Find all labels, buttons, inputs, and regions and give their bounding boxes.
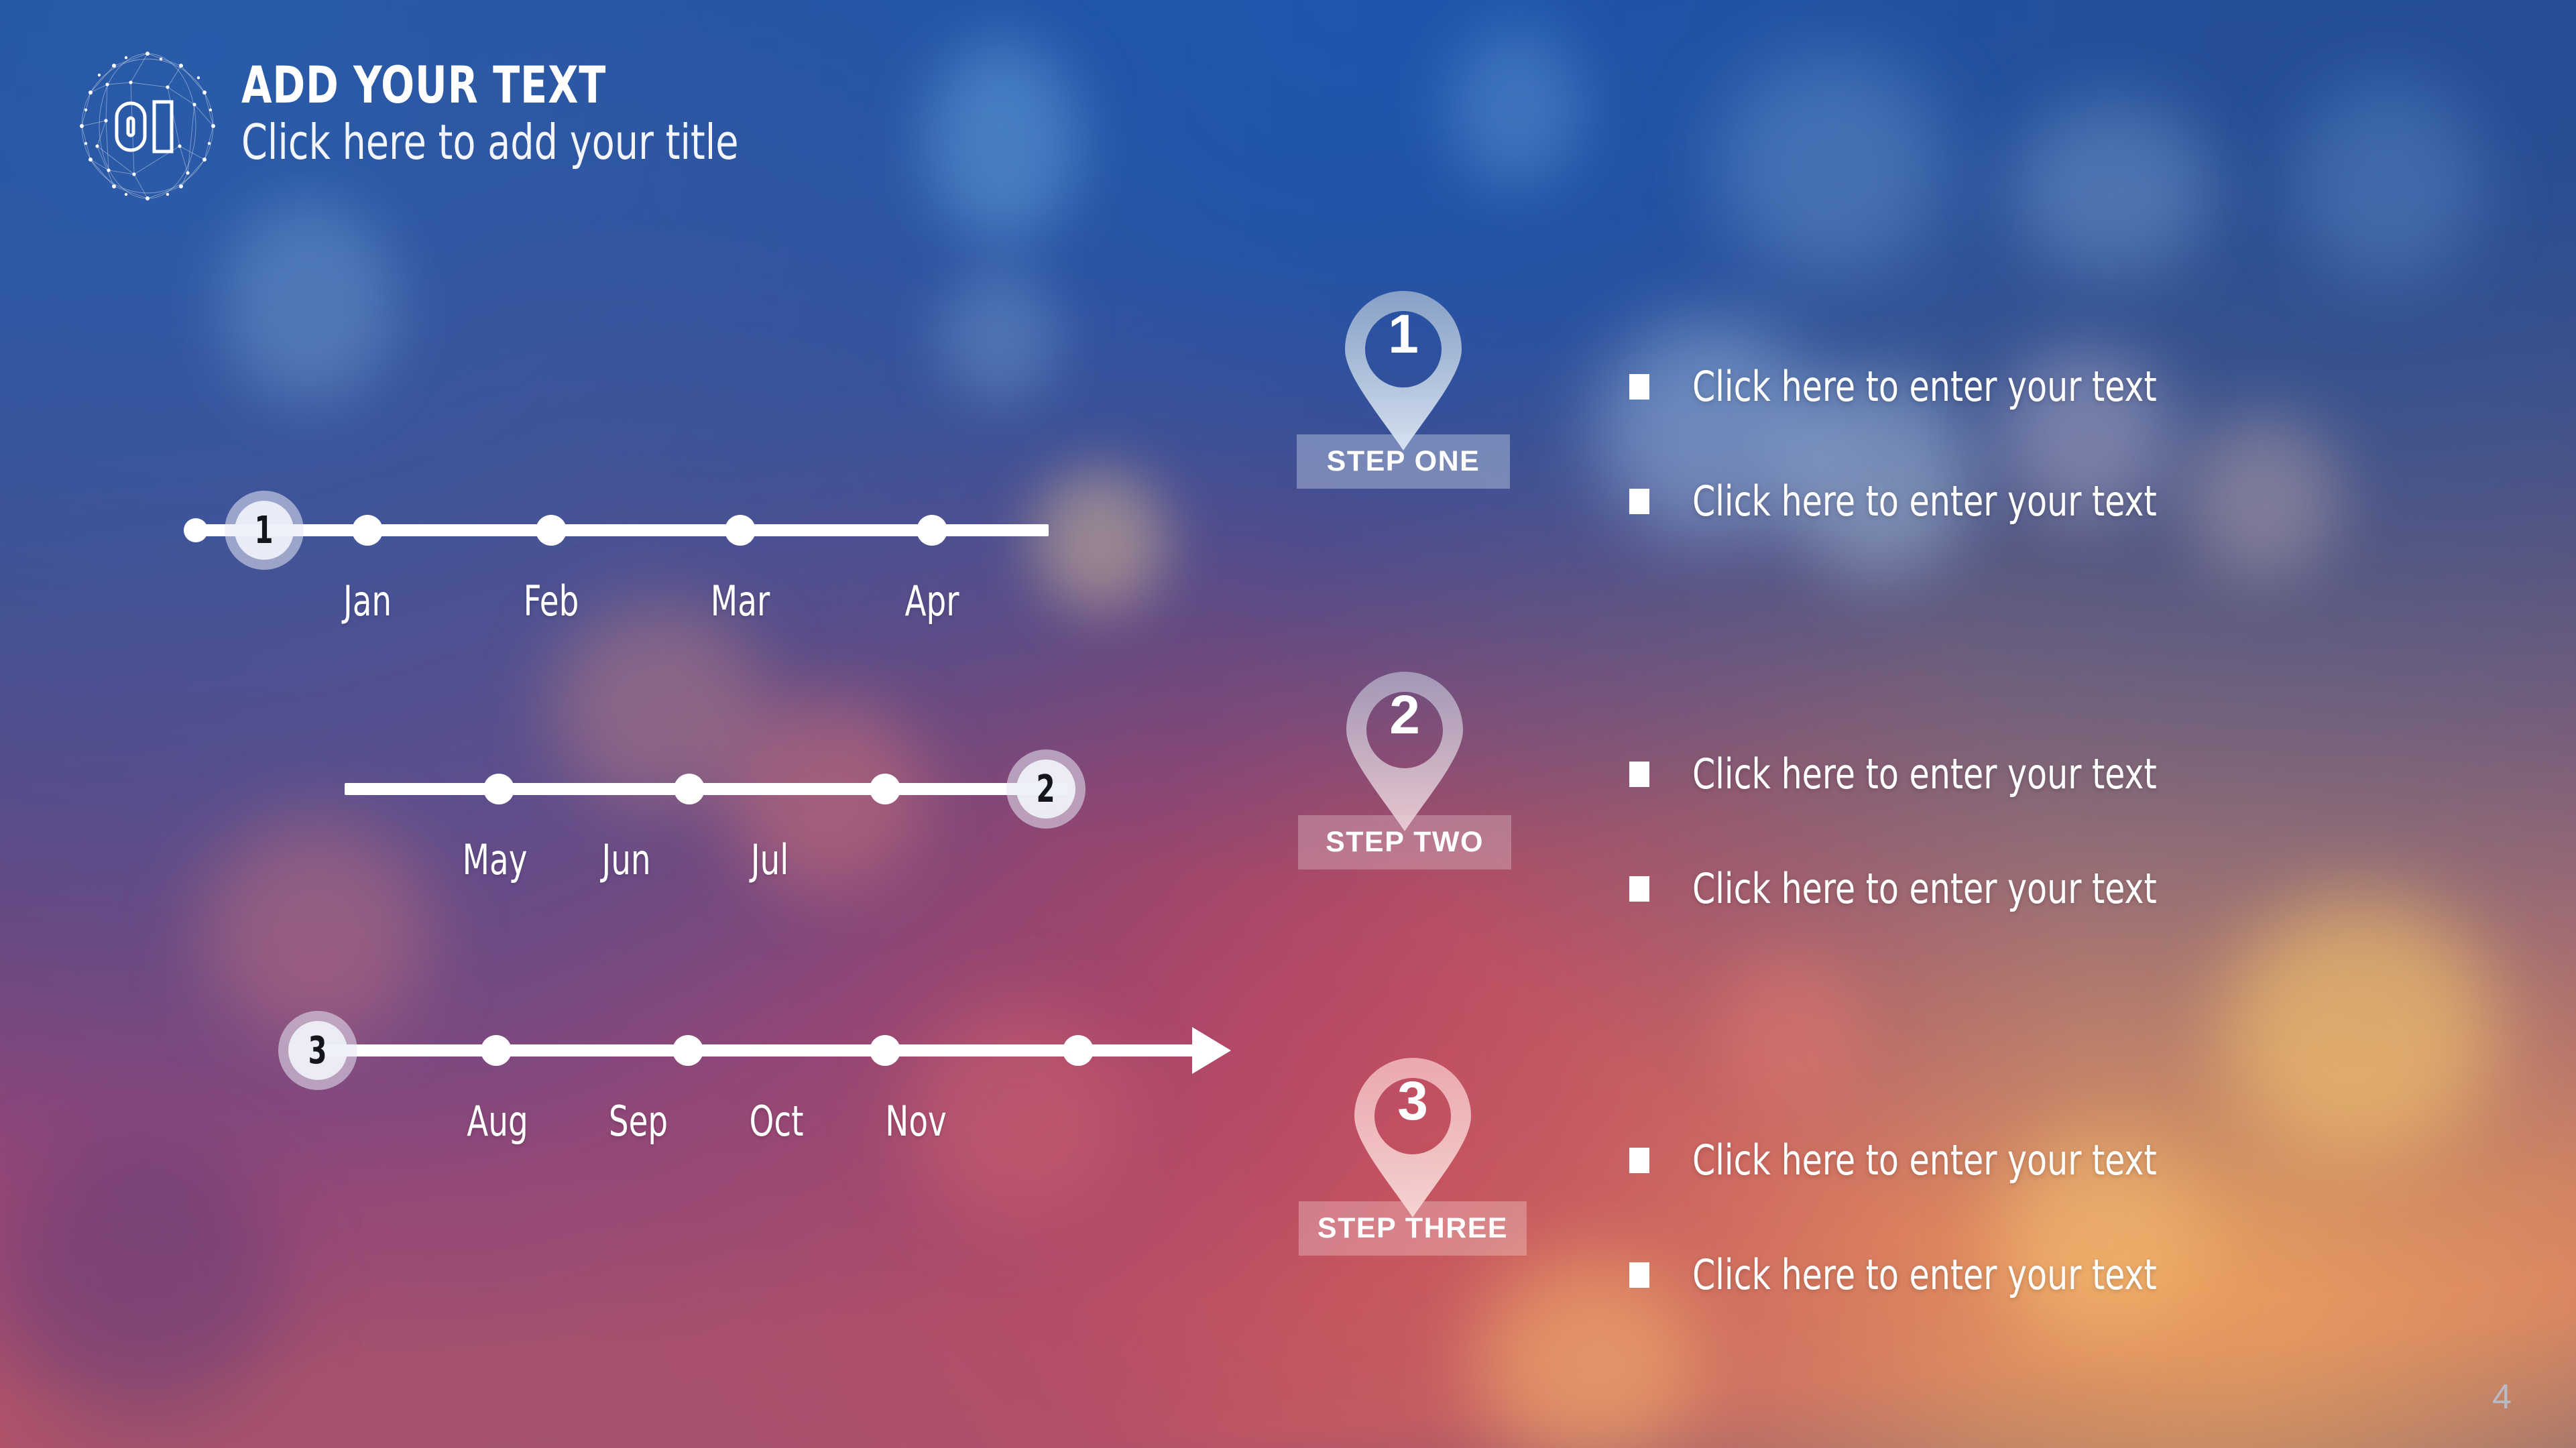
bokeh-blob <box>1033 469 1167 610</box>
network-constellation-logo-icon <box>67 46 228 206</box>
timeline-month-label: Aug <box>467 1097 528 1146</box>
list-item-label: Click here to enter your text <box>1692 362 2157 411</box>
timeline-arrow-head-icon <box>1192 1027 1231 1074</box>
bokeh-blob <box>0 1140 282 1421</box>
step-pin-number: 3 <box>1349 1074 1476 1129</box>
timeline-month-label: Sep <box>609 1097 668 1146</box>
step-two-bullets: Click here to enter your text Click here… <box>1629 749 2220 913</box>
filled-square-bullet-icon <box>1629 876 1649 902</box>
timeline-month-label: Apr <box>904 577 959 625</box>
timeline-month-label: Jul <box>751 835 789 884</box>
list-item-label: Click here to enter your text <box>1692 477 2157 526</box>
bokeh-blob <box>550 603 764 804</box>
map-pin-icon[interactable]: 1 <box>1340 287 1467 455</box>
step-label-chip[interactable]: STEP THREE <box>1299 1201 1527 1256</box>
list-item-label: Click here to enter your text <box>1692 749 2157 798</box>
step-three-bullets: Click here to enter your text Click here… <box>1629 1136 2220 1299</box>
list-item-label: Click here to enter your text <box>1692 1250 2157 1299</box>
timeline-node[interactable] <box>536 515 567 546</box>
list-item[interactable]: Click here to enter your text <box>1629 362 2220 411</box>
timeline-track <box>345 783 1067 795</box>
bokeh-blob <box>2293 80 2481 282</box>
timeline-node[interactable] <box>917 515 947 546</box>
bokeh-blob <box>2226 898 2494 1153</box>
bokeh-blob <box>925 40 1079 241</box>
bokeh-blob <box>201 818 429 1039</box>
map-pin-icon[interactable]: 2 <box>1341 668 1468 835</box>
list-item[interactable]: Click here to enter your text <box>1629 749 2220 798</box>
marker-number: 3 <box>308 1029 327 1073</box>
timeline-node[interactable] <box>1063 1035 1094 1066</box>
filled-square-bullet-icon <box>1629 762 1649 787</box>
timeline-node[interactable] <box>352 515 383 546</box>
page-subtitle: Click here to add your title <box>241 115 739 170</box>
timeline-node[interactable] <box>870 1035 900 1066</box>
bokeh-blob <box>1448 27 1582 188</box>
page-number: 4 <box>2492 1377 2512 1417</box>
timeline-node[interactable] <box>672 1035 703 1066</box>
list-item[interactable]: Click here to enter your text <box>1629 864 2220 913</box>
timeline-node[interactable] <box>483 774 514 804</box>
step-group-one[interactable]: 1 STEP ONE <box>1340 287 1467 455</box>
step-pin-number: 2 <box>1341 688 1468 743</box>
bokeh-blob <box>1716 54 1944 275</box>
timeline-marker-3[interactable]: 3 <box>278 1011 357 1090</box>
bokeh-blob <box>939 268 1059 402</box>
list-item-label: Click here to enter your text <box>1692 1136 2157 1185</box>
timeline-month-label: Nov <box>885 1097 946 1146</box>
filled-square-bullet-icon <box>1629 1262 1649 1288</box>
step-one-bullets: Click here to enter your text Click here… <box>1629 362 2220 526</box>
timeline-marker-2[interactable]: 2 <box>1006 749 1086 829</box>
filled-square-bullet-icon <box>1629 489 1649 514</box>
list-item-label: Click here to enter your text <box>1692 864 2157 913</box>
map-pin-icon[interactable]: 3 <box>1349 1054 1476 1221</box>
list-item[interactable]: Click here to enter your text <box>1629 1250 2220 1299</box>
list-item[interactable]: Click here to enter your text <box>1629 477 2220 526</box>
step-label-chip[interactable]: STEP ONE <box>1297 434 1510 489</box>
timeline-marker-1[interactable]: 1 <box>225 491 304 570</box>
timeline-node[interactable] <box>674 774 705 804</box>
step-pin-number: 1 <box>1340 307 1467 362</box>
timeline-month-label: Jan <box>343 577 392 625</box>
marker-number: 2 <box>1037 768 1055 811</box>
slide-canvas: ADD YOUR TEXT Click here to add your tit… <box>0 0 2576 1448</box>
timeline-node[interactable] <box>481 1035 512 1066</box>
timeline-start-cap <box>184 518 208 542</box>
timeline-month-label: May <box>463 835 528 884</box>
filled-square-bullet-icon <box>1629 374 1649 400</box>
bokeh-blob <box>2011 101 2213 275</box>
step-group-three[interactable]: 3 STEP THREE <box>1349 1054 1476 1221</box>
list-item[interactable]: Click here to enter your text <box>1629 1136 2220 1185</box>
title-block: ADD YOUR TEXT Click here to add your tit… <box>241 40 819 170</box>
slide-header: ADD YOUR TEXT Click here to add your tit… <box>67 40 819 206</box>
timeline-month-label: Feb <box>524 577 579 625</box>
filled-square-bullet-icon <box>1629 1148 1649 1173</box>
step-label-chip[interactable]: STEP TWO <box>1298 815 1511 869</box>
timeline-month-label: Jun <box>601 835 650 884</box>
page-title: ADD YOUR TEXT <box>241 60 739 110</box>
step-group-two[interactable]: 2 STEP TWO <box>1341 668 1468 835</box>
timeline-node[interactable] <box>725 515 756 546</box>
marker-number: 1 <box>255 509 274 552</box>
timeline-node[interactable] <box>870 774 900 804</box>
timeline-month-label: Oct <box>750 1097 804 1146</box>
timeline-month-label: Mar <box>711 577 770 625</box>
bokeh-blob <box>221 201 396 402</box>
bokeh-blob <box>1716 952 1864 1106</box>
